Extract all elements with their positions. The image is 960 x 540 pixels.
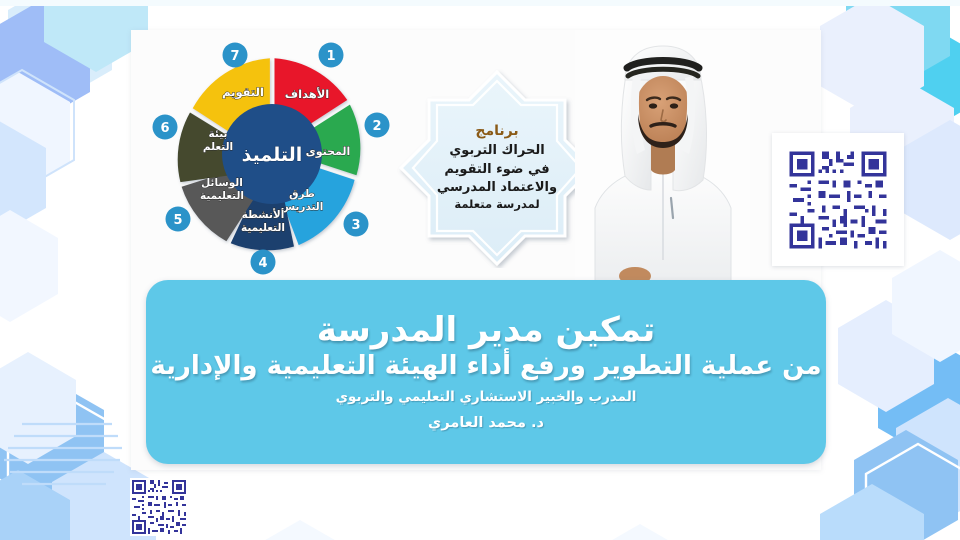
program-line-3: والاعتماد المدرسي bbox=[437, 179, 557, 196]
presenter-role: المدرب والخبير الاستشاري التعليمي والترب… bbox=[336, 389, 637, 407]
wheel-label-3a: طرق bbox=[289, 188, 315, 200]
wheel-badge-label-3: 3 bbox=[351, 218, 360, 233]
wheel-badge-label-6: 6 bbox=[160, 121, 169, 136]
qr-code-icon[interactable] bbox=[130, 478, 188, 536]
program-star-callout: برنامج الحراك التربوي في ضوء التقويم وال… bbox=[396, 68, 598, 268]
wheel-center-label: التلميذ bbox=[242, 144, 303, 166]
qr-code-bottom-left[interactable] bbox=[130, 478, 202, 536]
title-banner: تمكين مدير المدرسة من عملية التطوير ورفع… bbox=[146, 280, 826, 464]
eye-left bbox=[649, 103, 657, 108]
wheel-badge-label-5: 5 bbox=[173, 213, 182, 228]
wheel-label-6a: بيئة bbox=[209, 128, 228, 140]
wheel-badge-label-1: 1 bbox=[326, 49, 335, 64]
wheel-label-3b: التدريس bbox=[281, 201, 324, 213]
teaching-process-wheel: التلميذ الأهداف المحتوى طرق التدريس الأن… bbox=[150, 34, 395, 279]
wheel-label-6b: التعلم bbox=[203, 141, 233, 153]
eye-right bbox=[670, 103, 678, 108]
banner-title-line2: من عملية التطوير ورفع أداء الهيئة التعلي… bbox=[150, 352, 821, 382]
wheel-label-1: الأهداف bbox=[285, 87, 329, 101]
wheel-label-5a: الوسائل bbox=[201, 177, 243, 189]
presenter-portrait bbox=[575, 30, 750, 283]
wheel-badge-label-2: 2 bbox=[372, 119, 381, 134]
program-heading: برنامج bbox=[475, 123, 518, 139]
wheel-label-7: التقويم bbox=[222, 85, 264, 100]
program-footer: لمدرسة متعلمة bbox=[454, 197, 539, 212]
program-star-text: برنامج الحراك التربوي في ضوء التقويم وال… bbox=[396, 68, 598, 268]
qr-code-card-top-right[interactable] bbox=[772, 133, 904, 266]
wheel-label-4b: التعليمية bbox=[241, 222, 285, 234]
presenter-name: د. محمد العامري bbox=[428, 414, 544, 433]
slide-canvas: التلميذ الأهداف المحتوى طرق التدريس الأن… bbox=[0, 0, 960, 540]
banner-title-line1: تمكين مدير المدرسة bbox=[317, 311, 656, 349]
wheel-badge-label-4: 4 bbox=[258, 256, 267, 271]
wheel-badge-label-7: 7 bbox=[230, 49, 239, 64]
wheel-label-5b: التعليمية bbox=[200, 190, 244, 202]
qr-code-icon[interactable] bbox=[786, 148, 890, 252]
program-line-1: الحراك التربوي bbox=[449, 142, 544, 159]
wheel-label-4a: الأنشطة bbox=[242, 208, 285, 221]
program-line-2: في ضوء التقويم bbox=[444, 161, 549, 178]
wheel-label-2: المحتوى bbox=[306, 145, 351, 158]
